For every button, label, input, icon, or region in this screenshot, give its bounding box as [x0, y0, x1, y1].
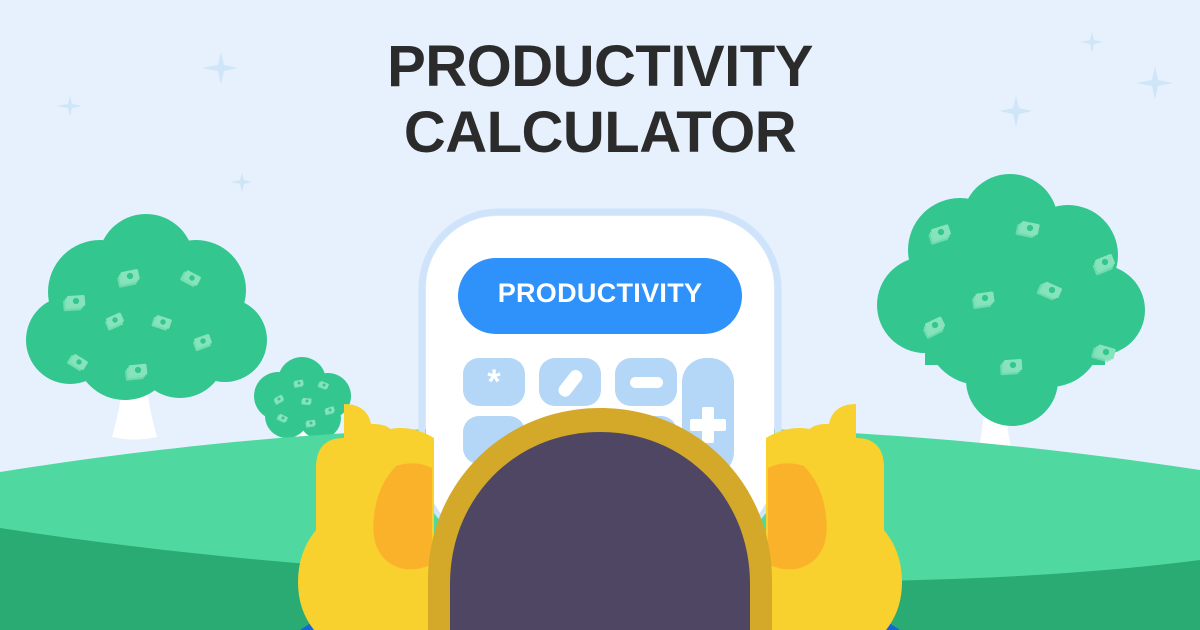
illustration-canvas: PRODUCTIVITY CALCULATOR PRODUCTIVITY *	[0, 0, 1200, 630]
person	[0, 0, 1200, 630]
hand-left	[298, 404, 434, 630]
hand-right	[766, 404, 902, 630]
